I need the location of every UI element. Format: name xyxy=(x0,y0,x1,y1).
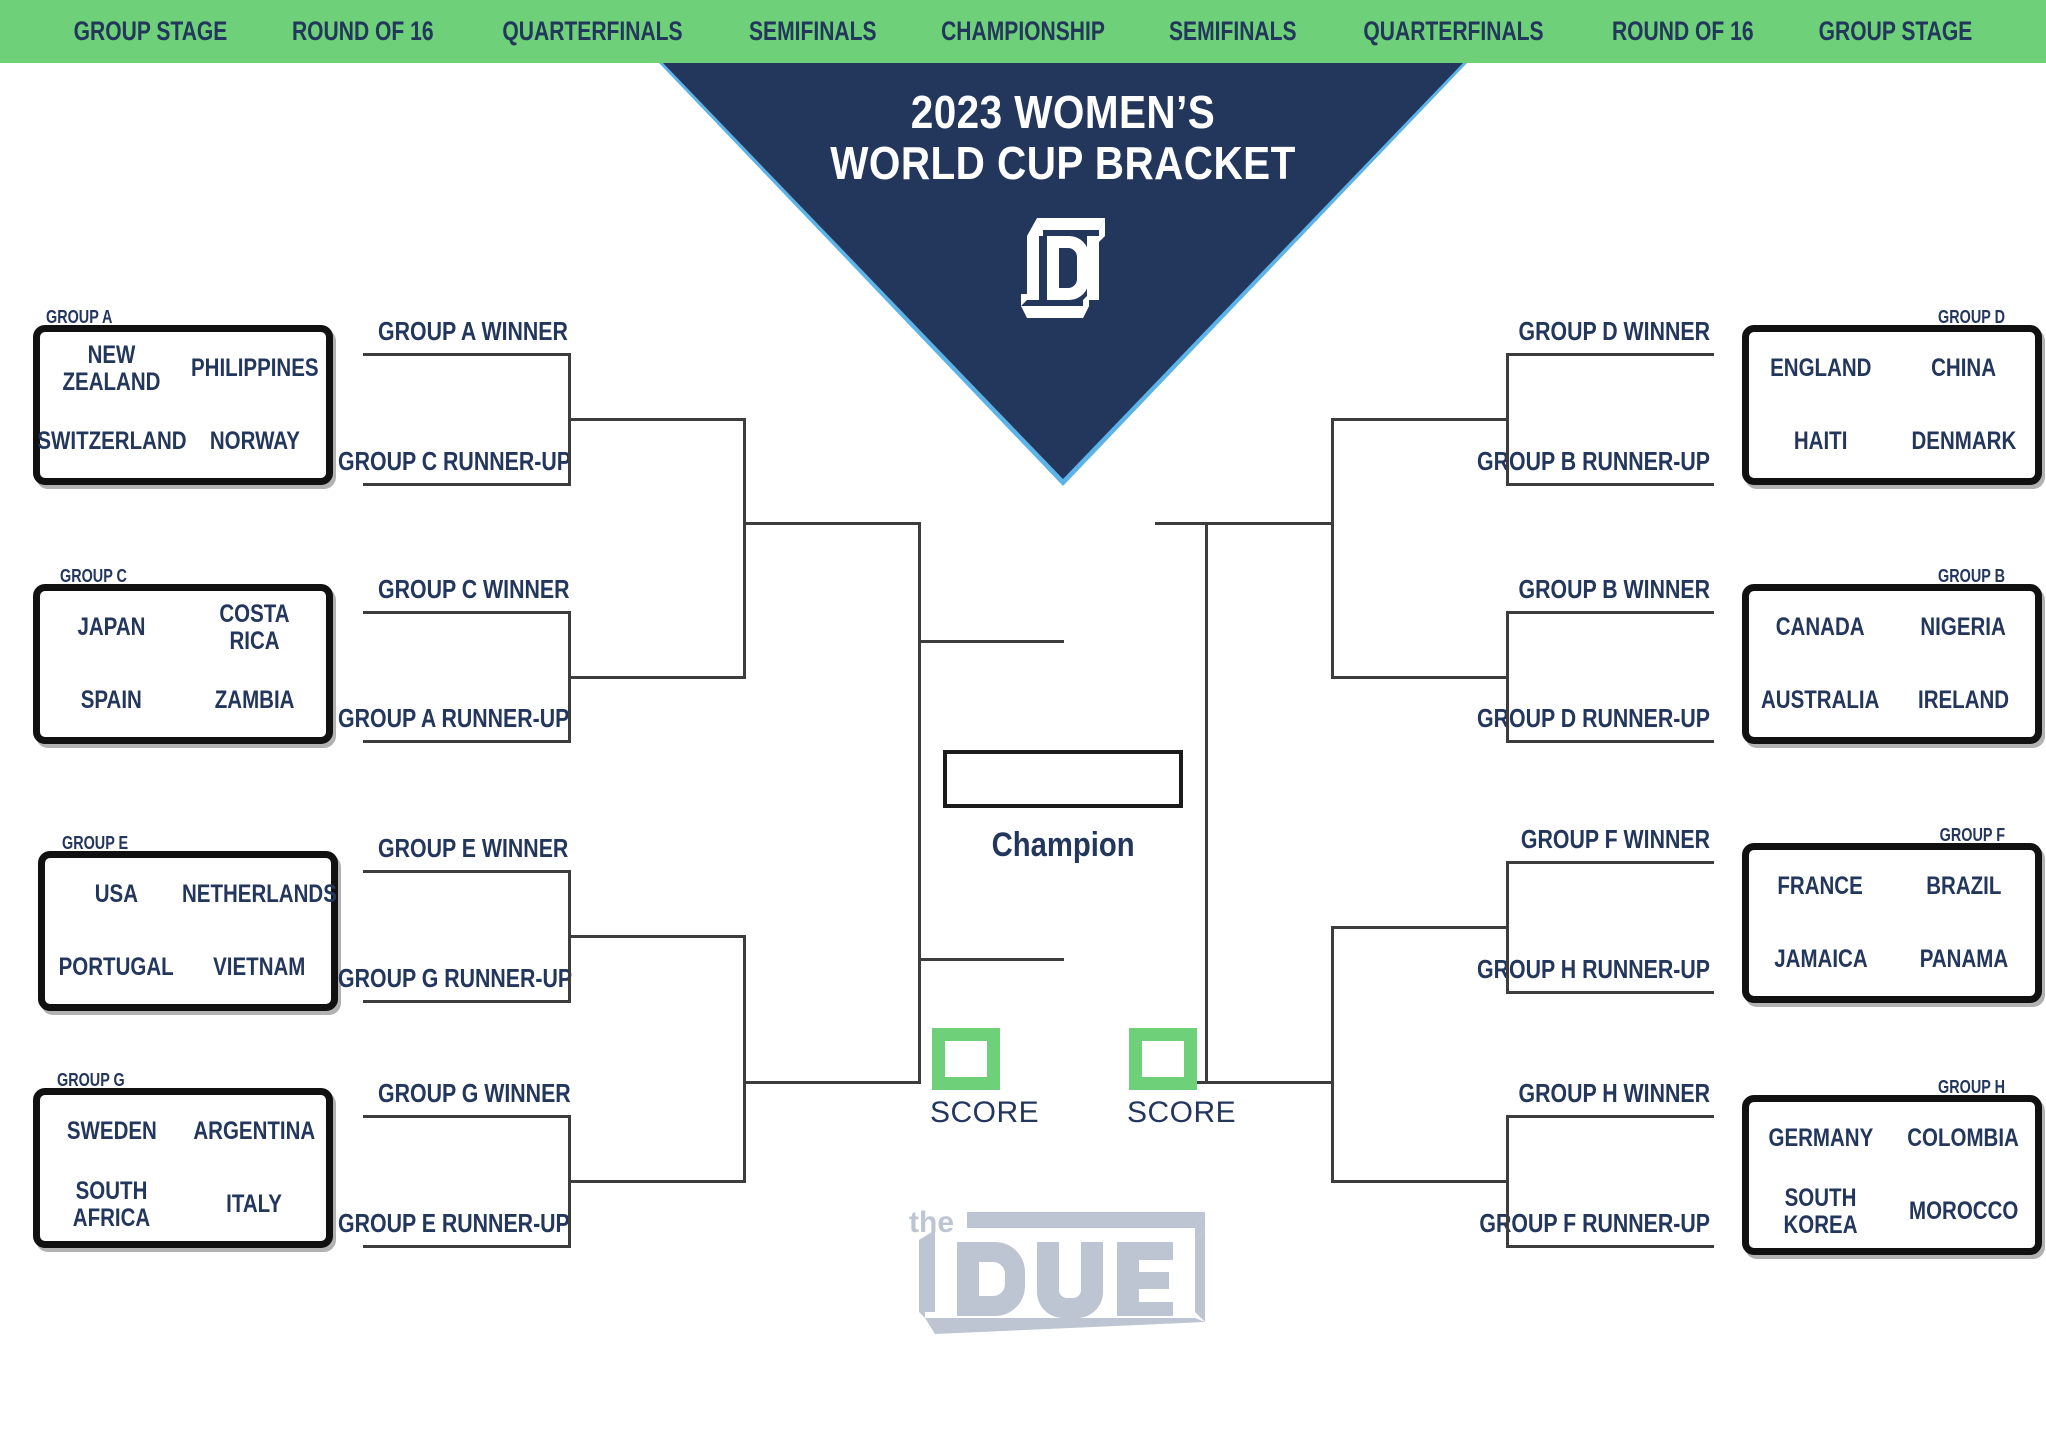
group-e-team-4: VIETNAM xyxy=(188,931,331,1004)
nav-group-stage-right[interactable]: GROUP STAGE xyxy=(1819,16,1973,47)
slot-group-a-runner-up[interactable]: GROUP A RUNNER-UP xyxy=(338,703,620,734)
slot-group-b-runner-up[interactable]: GROUP B RUNNER-UP xyxy=(1340,446,1710,477)
group-f-team-1: FRANCE xyxy=(1749,850,1892,923)
slot-group-g-winner[interactable]: GROUP G WINNER xyxy=(378,1078,613,1109)
nav-semifinals-right[interactable]: SEMIFINALS xyxy=(1169,16,1297,47)
score-right-input[interactable] xyxy=(1129,1028,1197,1090)
slot-group-e-runner-up[interactable]: GROUP E RUNNER-UP xyxy=(338,1208,621,1239)
group-f-team-2: BRAZIL xyxy=(1892,850,2035,923)
group-f-team-4: PANAMA xyxy=(1892,923,2035,996)
bracket-line xyxy=(1506,1245,1714,1248)
bracket-line xyxy=(743,935,746,1183)
bracket-line xyxy=(568,935,746,938)
score-right-label: SCORE xyxy=(1127,1096,1199,1130)
bracket-line xyxy=(1506,991,1714,994)
group-g-box: SWEDEN ARGENTINA SOUTH AFRICA ITALY xyxy=(33,1088,333,1248)
bracket-line xyxy=(1331,676,1509,679)
score-left[interactable]: SCORE xyxy=(930,1028,1002,1130)
group-h-box: GERMANY COLOMBIA SOUTH KOREA MOROCCO xyxy=(1742,1095,2042,1255)
group-g-team-4: ITALY xyxy=(183,1168,326,1241)
score-left-label: SCORE xyxy=(930,1096,1002,1130)
group-d-team-2: CHINA xyxy=(1892,332,2035,405)
group-g-team-2: ARGENTINA xyxy=(183,1095,326,1168)
nav-round-of-16-right[interactable]: ROUND OF 16 xyxy=(1612,16,1754,47)
bracket-line xyxy=(568,1180,746,1183)
bracket-line xyxy=(743,1081,921,1084)
bracket-line xyxy=(918,958,1064,961)
group-d-team-4: DENMARK xyxy=(1892,405,2035,478)
group-g-team-3: SOUTH AFRICA xyxy=(40,1168,183,1241)
group-h-team-2: COLOMBIA xyxy=(1892,1102,2035,1175)
slot-group-c-winner[interactable]: GROUP C WINNER xyxy=(378,574,612,605)
slot-group-f-winner[interactable]: GROUP F WINNER xyxy=(1340,824,1710,855)
group-a-team-1: NEW ZEALAND xyxy=(40,332,183,405)
nav-round-of-16-left[interactable]: ROUND OF 16 xyxy=(292,16,434,47)
the-duel-watermark-logo: the xyxy=(905,1200,1215,1340)
bracket-line xyxy=(363,611,571,614)
group-h-team-4: MOROCCO xyxy=(1892,1175,2035,1248)
group-c-box: JAPAN COSTA RICA SPAIN ZAMBIA xyxy=(33,584,333,744)
group-e-team-3: PORTUGAL xyxy=(45,931,188,1004)
duel-d-logo xyxy=(1013,210,1113,326)
slot-group-d-winner[interactable]: GROUP D WINNER xyxy=(1340,316,1710,347)
page-title-line2: WORLD CUP BRACKET xyxy=(711,138,1415,189)
nav-championship[interactable]: CHAMPIONSHIP xyxy=(941,16,1105,47)
round-nav-bar: GROUP STAGE ROUND OF 16 QUARTERFINALS SE… xyxy=(0,0,2046,63)
bracket-line xyxy=(1506,740,1714,743)
bracket-line xyxy=(363,483,571,486)
score-right[interactable]: SCORE xyxy=(1127,1028,1199,1130)
bracket-line xyxy=(1506,1115,1714,1118)
group-e-team-2: NETHERLANDS xyxy=(188,858,331,931)
group-d-team-3: HAITI xyxy=(1749,405,1892,478)
group-a-team-3: SWITZERLAND xyxy=(40,405,183,478)
slot-group-d-runner-up[interactable]: GROUP D RUNNER-UP xyxy=(1340,703,1710,734)
group-a-team-2: PHILIPPINES xyxy=(183,332,326,405)
bracket-line xyxy=(1331,926,1334,1183)
bracket-line xyxy=(1506,611,1714,614)
bracket-line xyxy=(1506,861,1714,864)
group-d-team-1: ENGLAND xyxy=(1749,332,1892,405)
group-h-team-3: SOUTH KOREA xyxy=(1749,1175,1892,1248)
nav-group-stage-left[interactable]: GROUP STAGE xyxy=(73,16,227,47)
slot-group-b-winner[interactable]: GROUP B WINNER xyxy=(1340,574,1710,605)
group-f-box: FRANCE BRAZIL JAMAICA PANAMA xyxy=(1742,843,2042,1003)
slot-group-e-winner[interactable]: GROUP E WINNER xyxy=(378,833,610,864)
slot-group-c-runner-up[interactable]: GROUP C RUNNER-UP xyxy=(338,446,622,477)
nav-quarterfinals-right[interactable]: QUARTERFINALS xyxy=(1364,16,1544,47)
group-b-team-1: CANADA xyxy=(1749,591,1892,664)
title-banner: 2023 WOMEN’S WORLD CUP BRACKET xyxy=(663,63,1463,479)
slot-group-h-runner-up[interactable]: GROUP H RUNNER-UP xyxy=(1340,954,1710,985)
group-c-team-4: ZAMBIA xyxy=(183,664,326,737)
champion-label: Champion xyxy=(943,826,1183,865)
bracket-line xyxy=(363,1115,571,1118)
slot-group-h-winner[interactable]: GROUP H WINNER xyxy=(1340,1078,1710,1109)
bracket-line xyxy=(1506,353,1714,356)
slot-group-a-winner[interactable]: GROUP A WINNER xyxy=(378,316,610,347)
bracket-line xyxy=(568,676,746,679)
nav-quarterfinals-left[interactable]: QUARTERFINALS xyxy=(502,16,682,47)
bracket-line xyxy=(363,353,571,356)
bracket-line xyxy=(918,522,921,1084)
group-b-box: CANADA NIGERIA AUSTRALIA IRELAND xyxy=(1742,584,2042,744)
bracket-line xyxy=(1331,926,1509,929)
group-f-team-3: JAMAICA xyxy=(1749,923,1892,996)
bracket-line xyxy=(1331,418,1334,679)
champion-input-box[interactable] xyxy=(943,750,1183,808)
group-g-team-1: SWEDEN xyxy=(40,1095,183,1168)
bracket-line xyxy=(1506,483,1714,486)
bracket-line xyxy=(363,1000,571,1003)
group-b-team-2: NIGERIA xyxy=(1892,591,2035,664)
slot-group-g-runner-up[interactable]: GROUP G RUNNER-UP xyxy=(338,963,624,994)
bracket-line xyxy=(743,522,921,525)
bracket-line xyxy=(568,418,746,421)
group-e-team-1: USA xyxy=(45,858,188,931)
group-d-box: ENGLAND CHINA HAITI DENMARK xyxy=(1742,325,2042,485)
group-c-team-1: JAPAN xyxy=(40,591,183,664)
score-left-input[interactable] xyxy=(932,1028,1000,1090)
bracket-line xyxy=(1155,522,1333,525)
bracket-line xyxy=(743,418,746,679)
group-a-team-4: NORWAY xyxy=(183,405,326,478)
bracket-line xyxy=(918,640,1064,643)
page-title: 2023 WOMEN’S WORLD CUP BRACKET xyxy=(663,87,1463,188)
bracket-line xyxy=(363,740,571,743)
group-a-box: NEW ZEALAND PHILIPPINES SWITZERLAND NORW… xyxy=(33,325,333,485)
bracket-line xyxy=(1331,1180,1509,1183)
group-c-team-3: SPAIN xyxy=(40,664,183,737)
group-c-team-2: COSTA RICA xyxy=(183,591,326,664)
page-title-line1: 2023 WOMEN’S xyxy=(711,87,1415,138)
bracket-line xyxy=(1331,418,1509,421)
bracket-line xyxy=(363,870,571,873)
bracket-line xyxy=(1205,522,1208,1084)
bracket-line xyxy=(363,1245,571,1248)
group-h-team-1: GERMANY xyxy=(1749,1102,1892,1175)
nav-semifinals-left[interactable]: SEMIFINALS xyxy=(749,16,877,47)
group-b-team-4: IRELAND xyxy=(1892,664,2035,737)
slot-group-f-runner-up[interactable]: GROUP F RUNNER-UP xyxy=(1340,1208,1710,1239)
group-b-team-3: AUSTRALIA xyxy=(1749,664,1892,737)
group-e-box: USA NETHERLANDS PORTUGAL VIETNAM xyxy=(38,851,338,1011)
